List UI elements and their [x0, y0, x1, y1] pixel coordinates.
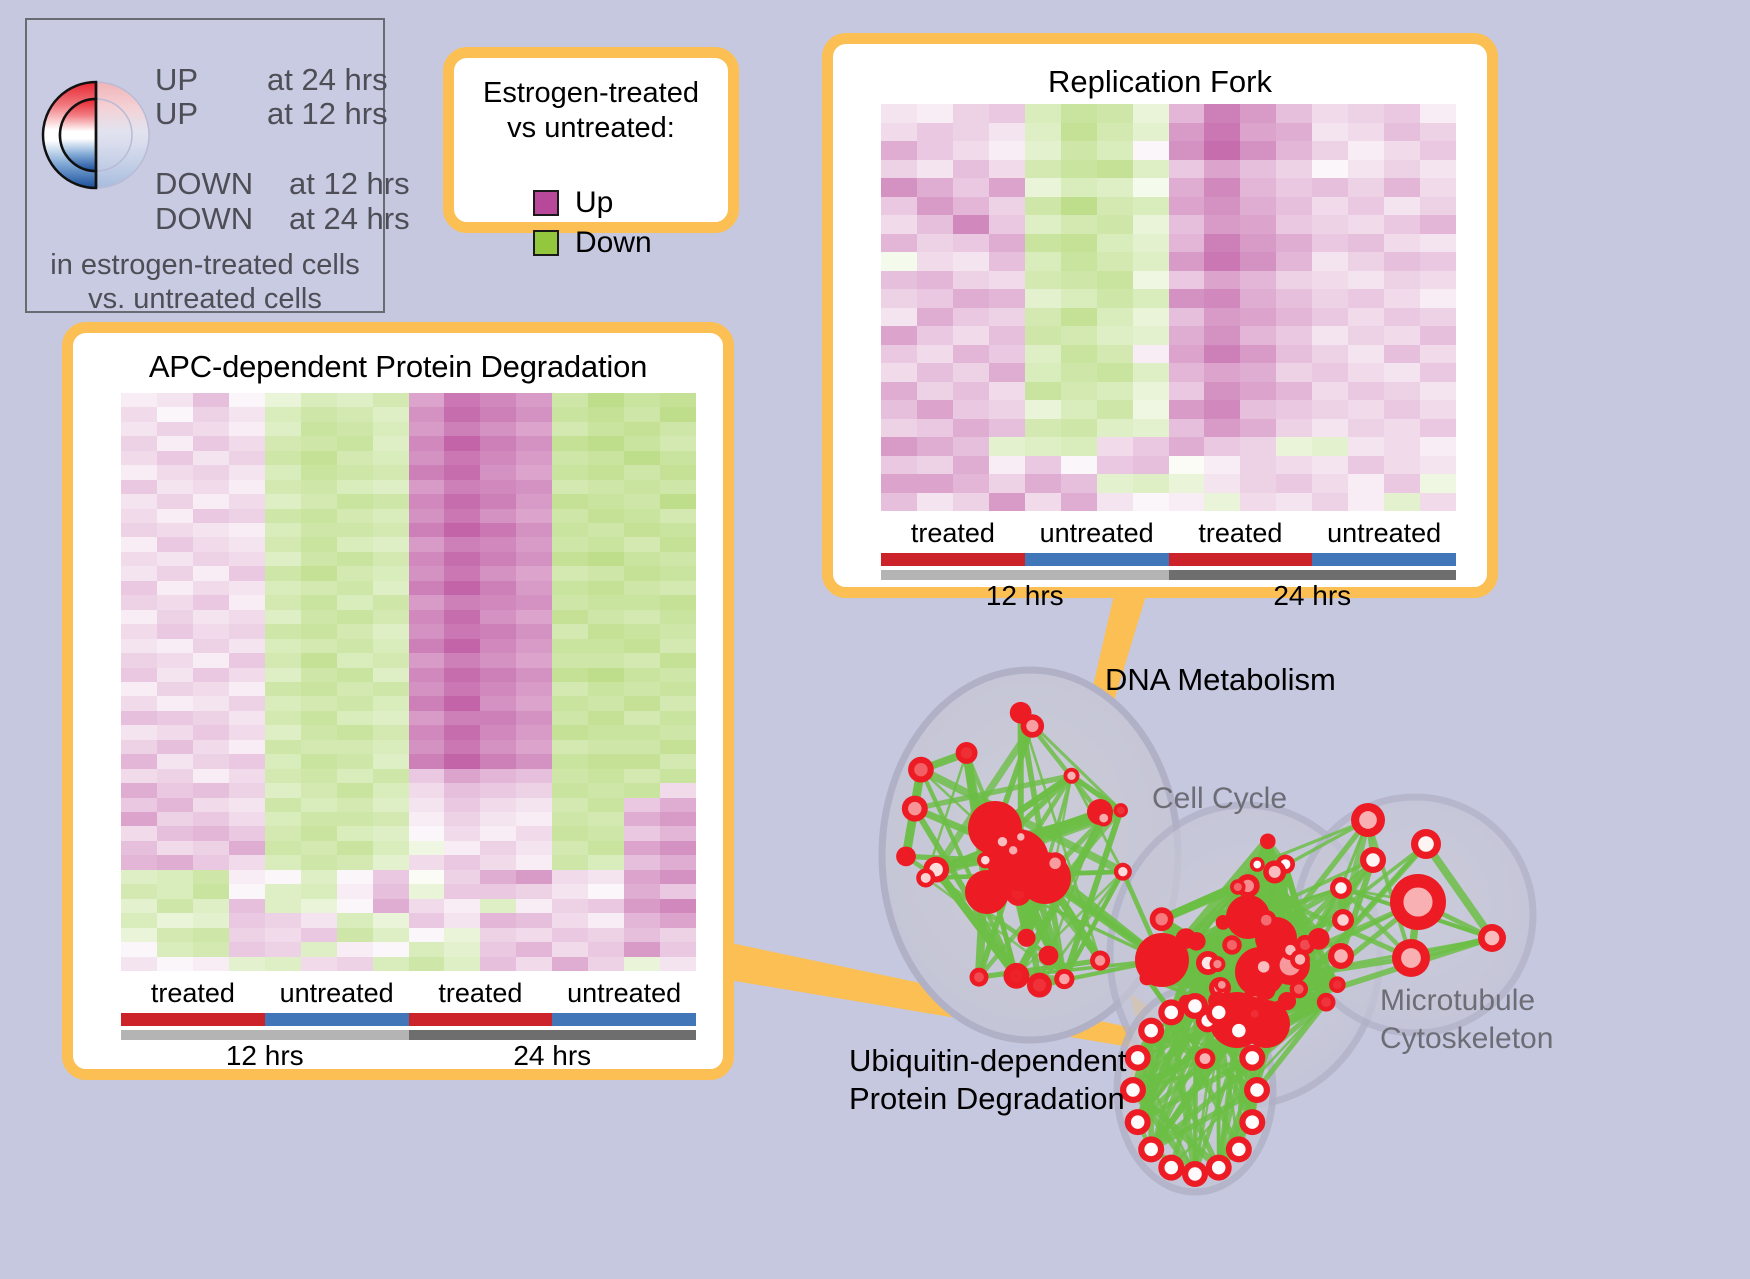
heatmap-cell — [373, 552, 409, 566]
heatmap-cell — [624, 480, 660, 494]
heatmap-cell — [552, 668, 588, 682]
heatmap-cell — [588, 566, 624, 580]
heatmap-cell — [588, 581, 624, 595]
heatmap-group-label: untreated — [552, 978, 696, 1009]
heatmap-cell — [229, 610, 265, 624]
heatmap-cell — [552, 711, 588, 725]
heatmap-cell — [881, 308, 917, 327]
heatmap-cell — [193, 509, 229, 523]
heatmap-cell — [1133, 123, 1169, 142]
heatmap-cell — [229, 928, 265, 942]
heatmap-cell — [444, 451, 480, 465]
heatmap-cell — [1133, 326, 1169, 345]
heatmap-cell — [121, 855, 157, 869]
heatmap-cell — [516, 870, 552, 884]
heatmap-cell — [552, 682, 588, 696]
heatmap-cell — [1276, 197, 1312, 216]
heatmap-cell — [301, 870, 337, 884]
heatmap-cell — [121, 769, 157, 783]
heatmap-cell — [1097, 215, 1133, 234]
heatmap-cell — [337, 725, 373, 739]
heatmap-cell — [265, 566, 301, 580]
heatmap-cell — [917, 308, 953, 327]
heatmap-cell — [881, 234, 917, 253]
heatmap-cell — [444, 639, 480, 653]
heatmap-cell — [301, 393, 337, 407]
heatmap-cell — [1420, 493, 1456, 512]
heatmap-cell — [917, 363, 953, 382]
heatmap-cell — [301, 826, 337, 840]
up-color-swatch-icon — [533, 190, 559, 216]
heatmap-group-label: treated — [409, 978, 553, 1009]
heatmap-cell — [409, 812, 445, 826]
heatmap-cell — [1276, 141, 1312, 160]
heatmap-cell — [516, 480, 552, 494]
heatmap-cell — [444, 552, 480, 566]
heatmap-cell — [516, 913, 552, 927]
heatmap-cell — [516, 783, 552, 797]
heatmap-cell — [660, 393, 696, 407]
treatment-bar-segment — [1025, 553, 1169, 566]
heatmap-cell — [588, 668, 624, 682]
heatmap-cell — [1420, 326, 1456, 345]
heatmap-cell — [881, 400, 917, 419]
heatmap-cell — [1097, 363, 1133, 382]
heatmap-cell — [229, 480, 265, 494]
heatmap-cell — [229, 465, 265, 479]
heatmap-cell — [660, 610, 696, 624]
heatmap-cell — [444, 436, 480, 450]
heatmap-cell — [953, 160, 989, 179]
network-node-core — [1337, 914, 1348, 925]
heatmap-cell — [444, 884, 480, 898]
heatmap-cell — [265, 711, 301, 725]
heatmap-cell — [444, 595, 480, 609]
heatmap-cell — [301, 566, 337, 580]
heatmap-cell — [265, 783, 301, 797]
heatmap-cell — [1420, 382, 1456, 401]
heatmap-cell — [193, 855, 229, 869]
heatmap-cell — [480, 610, 516, 624]
heatmap-cell — [229, 523, 265, 537]
heatmap-cell — [373, 566, 409, 580]
heatmap-cell — [444, 798, 480, 812]
heatmap-cell — [409, 639, 445, 653]
heatmap-cell — [1240, 234, 1276, 253]
heatmap-cell — [444, 509, 480, 523]
network-node-core — [1213, 960, 1221, 968]
heatmap-cell — [337, 957, 373, 971]
network-node-core — [1165, 1161, 1179, 1175]
heatmap-cell — [193, 668, 229, 682]
heatmap-cell — [265, 754, 301, 768]
heatmap-cell — [409, 624, 445, 638]
heatmap-cell — [301, 928, 337, 942]
heatmap-cell — [409, 465, 445, 479]
heatmap-cell — [624, 624, 660, 638]
network-node-core — [1232, 1024, 1246, 1038]
heatmap-panel-replication-fork: Replication Fork treateduntreatedtreated… — [822, 33, 1498, 598]
heatmap-cell — [917, 141, 953, 160]
heatmap-cell — [1204, 400, 1240, 419]
heatmap-cell — [444, 610, 480, 624]
heatmap-cell — [121, 783, 157, 797]
heatmap-cell — [588, 509, 624, 523]
heatmap-cell — [157, 826, 193, 840]
heatmap-cell — [157, 523, 193, 537]
heatmap-cell — [660, 754, 696, 768]
heatmap-cell — [265, 422, 301, 436]
heatmap-cell — [444, 393, 480, 407]
network-node-core — [1359, 811, 1377, 829]
heatmap-cell — [552, 928, 588, 942]
heatmap-cell — [409, 783, 445, 797]
network-node-core — [1117, 807, 1125, 815]
heatmap-cell — [516, 826, 552, 840]
network-node-core — [1010, 969, 1023, 982]
heatmap-cell — [265, 494, 301, 508]
heatmap-cell — [444, 855, 480, 869]
heatmap-cell — [444, 725, 480, 739]
heatmap-cell — [409, 769, 445, 783]
heatmap-cell — [1169, 197, 1205, 216]
heatmap-cell — [157, 422, 193, 436]
heatmap-cell — [480, 711, 516, 725]
heatmap-cell — [480, 928, 516, 942]
heatmap-cell — [229, 855, 265, 869]
heatmap-cell — [552, 465, 588, 479]
heatmap-cell — [337, 436, 373, 450]
heatmap-cell — [588, 754, 624, 768]
heatmap-cell — [301, 407, 337, 421]
heatmap-cell — [989, 123, 1025, 142]
heatmap-cell — [1169, 160, 1205, 179]
heatmap-cell — [989, 197, 1025, 216]
heatmap-cell — [265, 480, 301, 494]
heatmap-cell — [409, 451, 445, 465]
heatmap-cell — [624, 407, 660, 421]
heatmap-cell — [660, 436, 696, 450]
heatmap-cell — [409, 725, 445, 739]
heatmap-cell — [624, 610, 660, 624]
heatmap-cell — [1312, 437, 1348, 456]
heatmap-cell — [480, 740, 516, 754]
heatmap-cell — [265, 855, 301, 869]
heatmap-cell — [265, 913, 301, 927]
heatmap-cell — [229, 393, 265, 407]
heatmap-cell — [1204, 456, 1240, 475]
heatmap-cell — [444, 769, 480, 783]
heatmap-cell — [301, 668, 337, 682]
heatmap-cell — [301, 610, 337, 624]
heatmap-cell — [480, 552, 516, 566]
heatmap-cell — [1133, 308, 1169, 327]
network-node — [1278, 992, 1296, 1010]
heatmap-cell — [157, 480, 193, 494]
heatmap-cell — [1348, 289, 1384, 308]
heatmap-cell — [1348, 160, 1384, 179]
heatmap-cell — [157, 942, 193, 956]
heatmap-cell — [1204, 215, 1240, 234]
heatmap-cell — [881, 382, 917, 401]
heatmap-cell — [157, 624, 193, 638]
heatmap-cell — [1240, 197, 1276, 216]
time-label: 24 hrs — [1169, 580, 1457, 612]
heatmap-cell — [337, 451, 373, 465]
heatmap-cell — [337, 942, 373, 956]
heatmap-cell — [624, 826, 660, 840]
heatmap-cell — [373, 740, 409, 754]
heatmap-cell — [193, 928, 229, 942]
heatmap-cell — [409, 494, 445, 508]
network-node-core — [961, 747, 972, 758]
heatmap-cell — [881, 252, 917, 271]
heatmap-cell — [552, 537, 588, 551]
heatmap-cell — [1240, 326, 1276, 345]
heatmap-cell — [444, 957, 480, 971]
heatmap-cell — [121, 826, 157, 840]
heatmap-cell — [917, 160, 953, 179]
network-node-core — [1144, 1143, 1158, 1157]
heatmap-cell — [1133, 271, 1169, 290]
heatmap-cell — [516, 494, 552, 508]
heatmap-cell — [229, 639, 265, 653]
heatmap-cell — [516, 855, 552, 869]
heatmap-cell — [881, 456, 917, 475]
network-node-core — [1144, 1024, 1158, 1038]
network-node-core — [1335, 882, 1346, 893]
heatmap-cell — [624, 494, 660, 508]
heatmap-cell — [1204, 363, 1240, 382]
heatmap-cell — [444, 928, 480, 942]
heatmap-cell — [444, 465, 480, 479]
heatmap-cell — [1204, 419, 1240, 438]
time-label: 12 hrs — [121, 1040, 409, 1072]
heatmap-cell — [1061, 178, 1097, 197]
heatmap-cell — [193, 826, 229, 840]
heatmap-cell — [409, 711, 445, 725]
heatmap-cell — [373, 451, 409, 465]
heatmap-cell — [121, 537, 157, 551]
heatmap-cell — [409, 870, 445, 884]
heatmap-cell — [1097, 197, 1133, 216]
heatmap-cell — [373, 870, 409, 884]
heatmap-cell — [409, 841, 445, 855]
heatmap-cell — [953, 326, 989, 345]
heatmap-cell — [480, 407, 516, 421]
heatmap-cell — [881, 160, 917, 179]
heatmap-cell — [301, 480, 337, 494]
heatmap-cell — [1312, 363, 1348, 382]
heatmap-cell — [1420, 474, 1456, 493]
heatmap-cell — [588, 422, 624, 436]
heatmap-cell — [373, 465, 409, 479]
heatmap-cell — [444, 682, 480, 696]
heatmap-cell — [444, 480, 480, 494]
heatmap-cell — [624, 812, 660, 826]
heatmap-cell — [588, 957, 624, 971]
heatmap-cell — [157, 899, 193, 913]
heatmap-cell — [265, 899, 301, 913]
heatmap-cell — [953, 215, 989, 234]
heatmap-cell — [1420, 271, 1456, 290]
heatmap-cell — [588, 682, 624, 696]
heatmap-cell — [624, 639, 660, 653]
legend-label-up: Up — [575, 186, 613, 220]
heatmap-cell — [1097, 271, 1133, 290]
heatmap-cell — [989, 308, 1025, 327]
heatmap-cell — [989, 419, 1025, 438]
heatmap-cell — [1133, 234, 1169, 253]
heatmap-cell — [1240, 271, 1276, 290]
heatmap-cell — [229, 552, 265, 566]
heatmap-cell — [1204, 178, 1240, 197]
heatmap-cell — [1348, 326, 1384, 345]
heatmap-cell — [121, 451, 157, 465]
network-node-core — [1099, 814, 1108, 823]
heatmap-cell — [337, 711, 373, 725]
heatmap-cell — [624, 581, 660, 595]
heatmap-cell — [1276, 215, 1312, 234]
heatmap-cell — [157, 407, 193, 421]
pathway-network-graph — [790, 620, 1750, 1279]
heatmap-cell — [301, 465, 337, 479]
heatmap-cell — [989, 456, 1025, 475]
heatmap-cell — [660, 480, 696, 494]
heatmap-cell — [373, 913, 409, 927]
heatmap-cell — [373, 639, 409, 653]
heatmap-cell — [660, 711, 696, 725]
heatmap-cell — [193, 812, 229, 826]
network-node — [1255, 979, 1276, 1000]
heatmap-cell — [265, 812, 301, 826]
heatmap-cell — [1240, 252, 1276, 271]
heatmap-cell — [588, 913, 624, 927]
heatmap-cell — [917, 326, 953, 345]
heatmap-cell — [265, 841, 301, 855]
heatmap-cell — [1169, 252, 1205, 271]
heatmap-cell — [1025, 456, 1061, 475]
heatmap-cell — [1097, 252, 1133, 271]
heatmap-cell — [1133, 252, 1169, 271]
heatmap-cell — [1240, 215, 1276, 234]
heatmap-cell — [409, 913, 445, 927]
heatmap-cell — [1169, 419, 1205, 438]
heatmap-cell — [588, 711, 624, 725]
network-node — [1260, 834, 1276, 850]
heatmap-cell — [1348, 437, 1384, 456]
network-node-core — [1131, 1051, 1145, 1065]
heatmap-cell — [121, 552, 157, 566]
heatmap-cell — [373, 523, 409, 537]
heatmap-cell — [1204, 289, 1240, 308]
heatmap-cell — [588, 407, 624, 421]
heatmap-cell — [1384, 363, 1420, 382]
heatmap-cell — [1204, 474, 1240, 493]
heatmap-cell — [301, 899, 337, 913]
apc-axis: treateduntreatedtreateduntreated 12 hrs2… — [121, 978, 696, 1073]
heatmap-cell — [265, 552, 301, 566]
heatmap-group-label: treated — [881, 518, 1025, 549]
heatmap-cell — [301, 942, 337, 956]
heatmap-cell — [480, 393, 516, 407]
heatmap-cell — [121, 928, 157, 942]
network-node — [1263, 1026, 1278, 1041]
heatmap-cell — [881, 271, 917, 290]
heatmap-cell — [1025, 474, 1061, 493]
heatmap-cell — [480, 754, 516, 768]
heatmap-cell — [444, 581, 480, 595]
heatmap-cell — [1420, 252, 1456, 271]
heatmap-cell — [1384, 400, 1420, 419]
heatmap-cell — [989, 252, 1025, 271]
heatmap-cell — [1133, 382, 1169, 401]
heatmap-cell — [1025, 326, 1061, 345]
heatmap-cell — [1276, 160, 1312, 179]
heatmap-group-label: untreated — [265, 978, 409, 1009]
heatmap-cell — [881, 437, 917, 456]
heatmap-cell — [337, 595, 373, 609]
heatmap-cell — [660, 465, 696, 479]
heatmap-cell — [552, 798, 588, 812]
heatmap-cell — [516, 595, 552, 609]
heatmap-cell — [516, 407, 552, 421]
heatmap-cell — [552, 595, 588, 609]
apc-treatment-bar — [121, 1013, 696, 1026]
network-node-core — [1321, 997, 1331, 1007]
heatmap-cell — [1240, 437, 1276, 456]
heatmap-cell — [193, 407, 229, 421]
heatmap-cell — [1312, 178, 1348, 197]
heatmap-cell — [157, 798, 193, 812]
network-node-core — [998, 837, 1007, 846]
heatmap-cell — [480, 523, 516, 537]
heatmap-cell — [989, 271, 1025, 290]
heatmap-cell — [1097, 345, 1133, 364]
heatmap-cell — [229, 740, 265, 754]
heatmap-cell — [1025, 123, 1061, 142]
heatmap-cell — [881, 326, 917, 345]
heatmap-cell — [953, 419, 989, 438]
heatmap-cell — [516, 436, 552, 450]
heatmap-cell — [917, 215, 953, 234]
heatmap-cell — [1348, 234, 1384, 253]
heatmap-cell — [1348, 474, 1384, 493]
heatmap-cell — [1348, 271, 1384, 290]
heatmap-cell — [588, 393, 624, 407]
heatmap-cell — [1312, 123, 1348, 142]
heatmap-cell — [1348, 141, 1384, 160]
heatmap-cell — [660, 884, 696, 898]
heatmap-cell — [552, 855, 588, 869]
heatmap-cell — [1420, 419, 1456, 438]
heatmap-cell — [301, 552, 337, 566]
heatmap-cell — [1169, 400, 1205, 419]
label-microtubule-cytoskeleton: Microtubule Cytoskeleton — [1380, 982, 1553, 1058]
heatmap-cell — [157, 957, 193, 971]
heatmap-cell — [552, 725, 588, 739]
heatmap-cell — [1276, 271, 1312, 290]
replication-fork-axis: treateduntreatedtreateduntreated 12 hrs2… — [881, 518, 1456, 608]
heatmap-cell — [1348, 400, 1384, 419]
heatmap-cell — [1312, 474, 1348, 493]
heatmap-cell — [660, 855, 696, 869]
heatmap-cell — [265, 696, 301, 710]
heatmap-cell — [516, 537, 552, 551]
heatmap-cell — [229, 725, 265, 739]
heatmap-cell — [1169, 178, 1205, 197]
heatmap-cell — [953, 308, 989, 327]
